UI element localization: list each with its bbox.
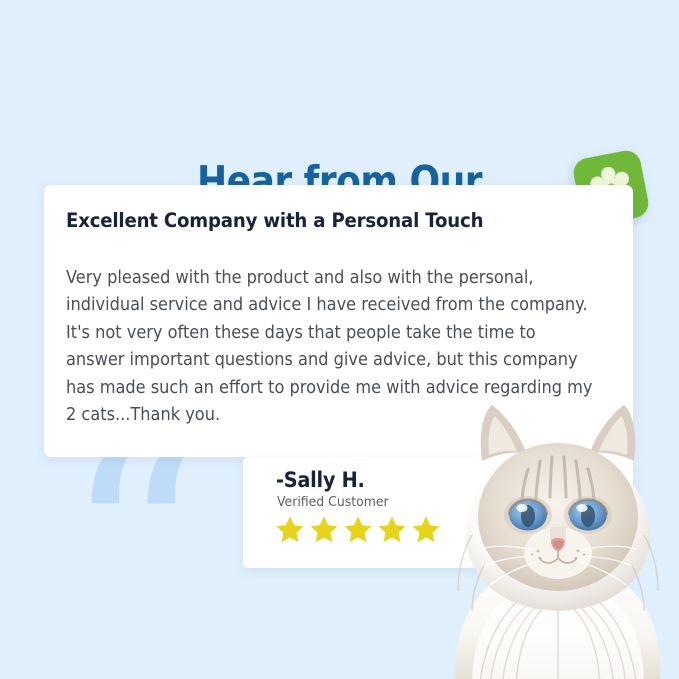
star-rating — [274, 514, 442, 546]
review-body-line: answer important questions and give advi… — [66, 347, 587, 374]
star-icon — [308, 514, 340, 546]
verified-customer-label: Verified Customer — [277, 495, 389, 510]
review-title: Excellent Company with a Personal Touch — [66, 209, 483, 232]
review-body-line: It's not very often these days that peop… — [66, 320, 587, 347]
review-body-line: Very pleased with the product and also w… — [66, 265, 587, 292]
review-body-line: individual service and advice I have rec… — [66, 292, 587, 319]
cat-photo — [432, 395, 679, 679]
cat-illustration — [432, 395, 679, 679]
testimonial-graphic: Hear from Our Happy Customers “ Excellen… — [0, 0, 679, 679]
star-icon — [376, 514, 408, 546]
reviewer-name: -Sally H. — [276, 468, 365, 492]
star-icon — [342, 514, 374, 546]
star-icon — [274, 514, 306, 546]
